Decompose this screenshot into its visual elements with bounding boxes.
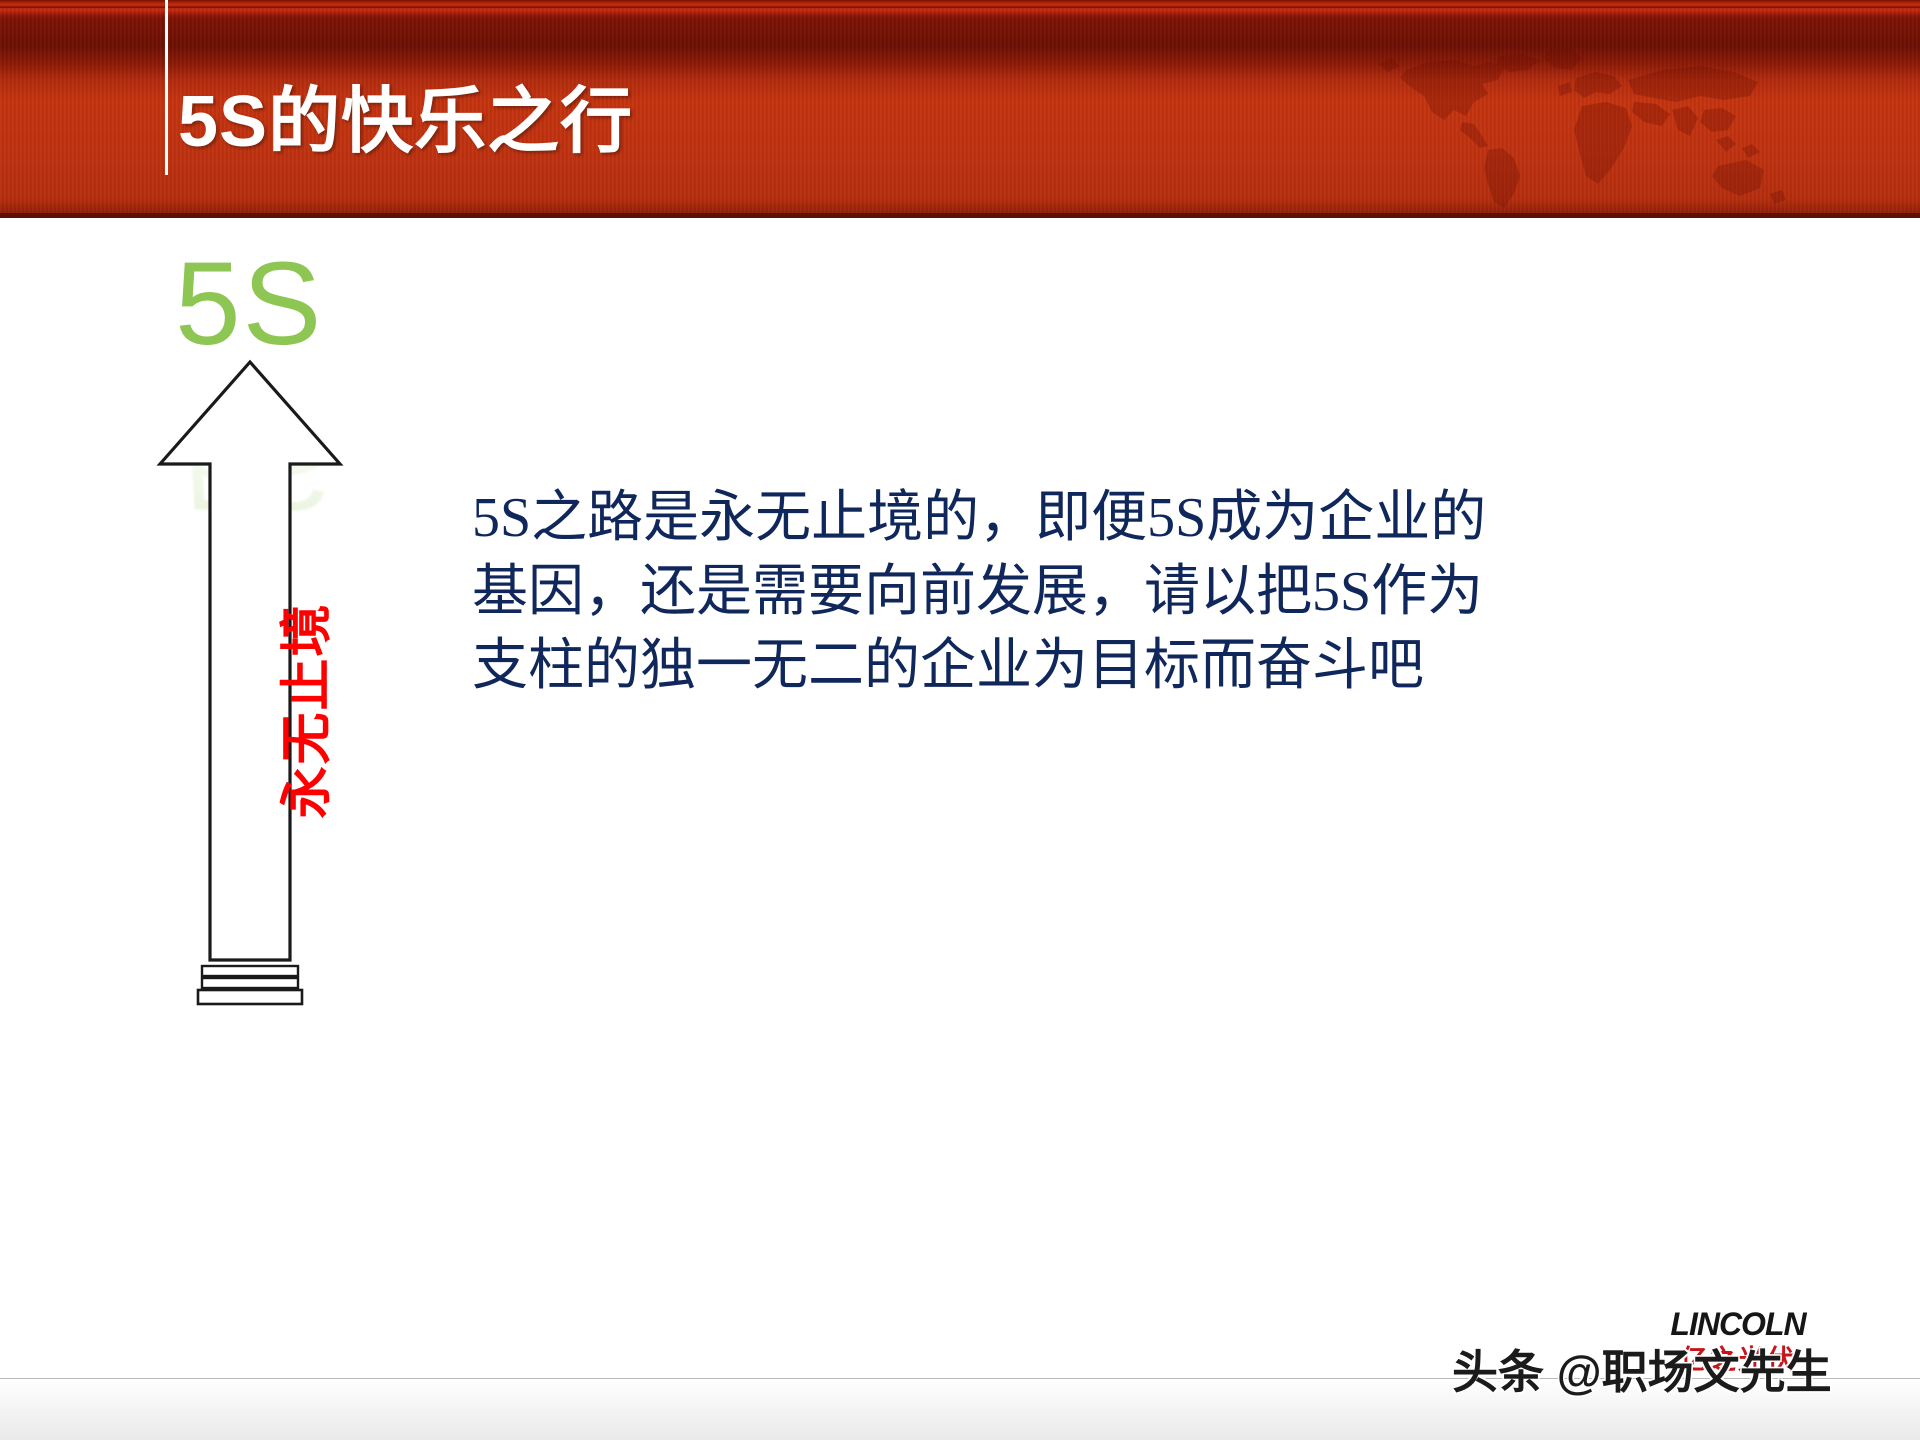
arrow-vertical-label: 永无止境 <box>247 560 357 820</box>
slide-canvas: 5S的快乐之行 5S 5S 永无止境 5S之路是永无止境的，即便5S成为企业的 … <box>0 0 1920 1440</box>
header-bottom-edge <box>0 213 1920 218</box>
header-top-highlight <box>0 0 1920 8</box>
arrow-vertical-label-text: 永无止境 <box>265 602 340 818</box>
body-line-1: 5S之路是永无止境的，即便5S成为企业的 <box>472 482 1472 556</box>
body-line-2: 基因，还是需要向前发展，请以把5S作为 <box>472 556 1472 630</box>
body-paragraph: 5S之路是永无止境的，即便5S成为企业的 基因，还是需要向前发展，请以把5S作为… <box>472 482 1472 704</box>
toutiao-watermark: 头条 @职场文先生 <box>1452 1336 1832 1402</box>
world-map-icon <box>1370 44 1800 214</box>
page-title: 5S的快乐之行 <box>178 62 633 167</box>
body-line-3: 支柱的独一无二的企业为目标而奋斗吧 <box>472 630 1472 704</box>
header-divider <box>165 0 168 175</box>
slide-header: 5S的快乐之行 <box>0 0 1920 218</box>
